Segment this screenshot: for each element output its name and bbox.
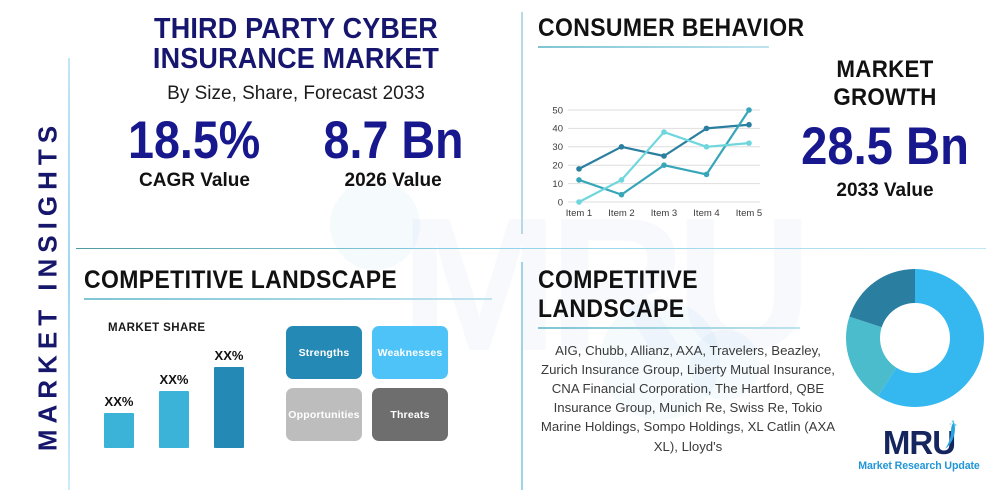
market-share-bar <box>214 367 244 448</box>
company-list: AIG, Chubb, Allianz, AXA, Travelers, Bea… <box>538 341 838 456</box>
watermark-blob-3 <box>330 180 420 270</box>
divider-vertical-left <box>68 58 70 490</box>
divider-vertical-middle-bottom <box>521 262 523 490</box>
competitive-landscape-left-panel: COMPETITIVE LANDSCAPE MARKET SHARE XX%XX… <box>84 266 514 300</box>
mru-logo: MRU Market Research Update <box>856 426 982 472</box>
market-growth-value: 28.5 Bn <box>792 118 979 176</box>
consumer-behavior-panel: CONSUMER BEHAVIOR MARKET GROWTH 28.5 Bn … <box>538 14 990 48</box>
chart-data-point <box>746 122 752 128</box>
competitive-right-heading: COMPETITIVE LANDSCAPE <box>538 266 814 324</box>
chart-data-point <box>576 166 582 172</box>
chart-x-tick-label: Item 2 <box>608 208 634 219</box>
chart-data-point <box>576 199 582 205</box>
stat-cagr-label: CAGR Value <box>119 170 269 192</box>
header-panel: THIRD PARTY CYBER INSURANCE MARKET By Si… <box>78 14 514 192</box>
stat-2026: 8.7 Bn 2026 Value <box>314 113 473 192</box>
market-share-donut-chart <box>846 269 984 407</box>
market-share-bar-item: XX% <box>159 372 189 448</box>
chart-x-tick-label: Item 4 <box>693 208 719 219</box>
market-share-bar-item: XX% <box>214 348 244 448</box>
divider-horizontal <box>76 248 986 249</box>
chart-data-point <box>661 129 667 135</box>
competitive-landscape-right-panel: COMPETITIVE LANDSCAPE AIG, Chubb, Allian… <box>538 266 838 456</box>
logo-tagline: Market Research Update <box>856 460 982 472</box>
chart-x-tick-label: Item 1 <box>566 208 592 219</box>
market-share-bar <box>159 391 189 448</box>
market-share-bar-label: XX% <box>214 348 244 363</box>
chart-data-point <box>704 126 710 132</box>
logo-wordmark: MRU <box>883 426 955 459</box>
line-chart-svg: 01020304050Item 1Item 2Item 3Item 4Item … <box>538 102 770 232</box>
chart-data-point <box>661 162 667 168</box>
divider-vertical-middle-top <box>521 12 523 234</box>
chart-y-tick-label: 10 <box>552 179 563 190</box>
page-title: THIRD PARTY CYBER INSURANCE MARKET <box>93 14 498 74</box>
swot-box-strengths[interactable]: Strengths <box>286 326 362 379</box>
headline-stats: 18.5% CAGR Value 8.7 Bn 2026 Value <box>78 113 514 192</box>
consumer-behavior-heading: CONSUMER BEHAVIOR <box>538 14 805 43</box>
chart-y-tick-label: 50 <box>552 105 563 116</box>
stat-2026-label: 2026 Value <box>314 170 473 192</box>
market-share-label: MARKET SHARE <box>108 322 205 334</box>
stat-2026-value: 8.7 Bn <box>323 113 463 169</box>
chart-data-point <box>576 177 582 183</box>
swot-box-weaknesses[interactable]: Weaknesses <box>372 326 448 379</box>
stat-cagr-value: 18.5% <box>128 113 260 169</box>
chart-data-point <box>704 172 710 178</box>
market-share-bar-label: XX% <box>104 394 134 409</box>
consumer-behavior-rule <box>538 46 769 48</box>
chart-data-point <box>746 107 752 113</box>
market-growth-label: 2033 Value <box>780 180 990 202</box>
swot-box-opportunities[interactable]: Opportunities <box>286 388 362 441</box>
chart-y-tick-label: 0 <box>558 197 563 208</box>
logo-swoosh-icon <box>941 420 957 450</box>
market-insights-rail: MARKET INSIGHTS <box>33 76 64 496</box>
chart-y-tick-label: 40 <box>552 124 563 135</box>
chart-data-point <box>661 153 667 159</box>
market-growth-title: MARKET GROWTH <box>787 56 982 112</box>
swot-box-threats[interactable]: Threats <box>372 388 448 441</box>
market-share-bar-item: XX% <box>104 394 134 448</box>
consumer-behavior-line-chart: 01020304050Item 1Item 2Item 3Item 4Item … <box>538 102 770 232</box>
competitive-right-rule <box>538 327 800 329</box>
chart-data-point <box>619 177 625 183</box>
chart-data-point <box>704 144 710 150</box>
chart-y-tick-label: 30 <box>552 142 563 153</box>
chart-data-point <box>619 192 625 198</box>
competitive-left-heading: COMPETITIVE LANDSCAPE <box>84 266 397 295</box>
market-share-bar-chart: XX%XX%XX% <box>104 338 274 448</box>
page-subtitle: By Size, Share, Forecast 2033 <box>78 83 514 105</box>
stat-cagr: 18.5% CAGR Value <box>119 113 269 192</box>
competitive-left-rule <box>84 298 492 300</box>
chart-x-tick-label: Item 5 <box>736 208 762 219</box>
donut-center-hole <box>880 303 950 373</box>
chart-data-point <box>746 140 752 146</box>
swot-grid: StrengthsWeaknessesOpportunitiesThreats <box>286 326 448 441</box>
chart-data-point <box>619 144 625 150</box>
chart-y-tick-label: 20 <box>552 161 563 172</box>
chart-series-line <box>579 110 749 195</box>
market-share-bar-label: XX% <box>159 372 189 387</box>
market-share-bar <box>104 413 134 448</box>
chart-x-tick-label: Item 3 <box>651 208 677 219</box>
